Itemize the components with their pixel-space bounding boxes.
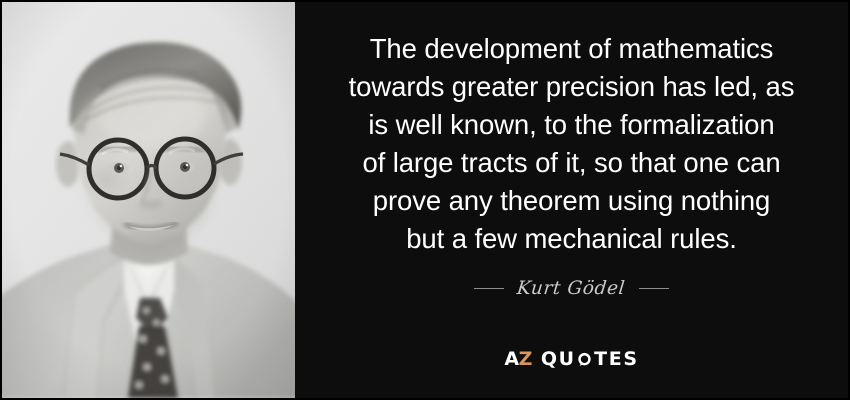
author-portrait-panel <box>2 2 295 398</box>
logo-letter-q: Q <box>541 350 559 369</box>
logo-letter-u: U <box>559 350 576 369</box>
logo-letter-e: E <box>609 350 624 369</box>
logo-letter-s: S <box>623 350 638 369</box>
logo-letter-z: Z <box>519 348 532 370</box>
quote-card: The development of mathematics towards g… <box>0 0 850 400</box>
attribution-left-dash <box>474 288 504 289</box>
logo-az-mark: AZ <box>504 350 532 369</box>
attribution: Kurt Gödel <box>474 278 668 299</box>
logo-quotes-word: QUTES <box>541 350 639 369</box>
quote-text: The development of mathematics towards g… <box>295 30 848 258</box>
speech-bubble-icon <box>577 352 592 367</box>
logo-letter-t: T <box>594 350 609 369</box>
attribution-right-dash <box>639 288 669 289</box>
azquotes-logo[interactable]: AZ QUTES <box>295 350 848 369</box>
quote-panel: The development of mathematics towards g… <box>295 2 848 398</box>
author-portrait-image <box>2 2 295 398</box>
logo-letter-a: A <box>504 348 518 370</box>
author-name: Kurt Gödel <box>516 278 626 299</box>
